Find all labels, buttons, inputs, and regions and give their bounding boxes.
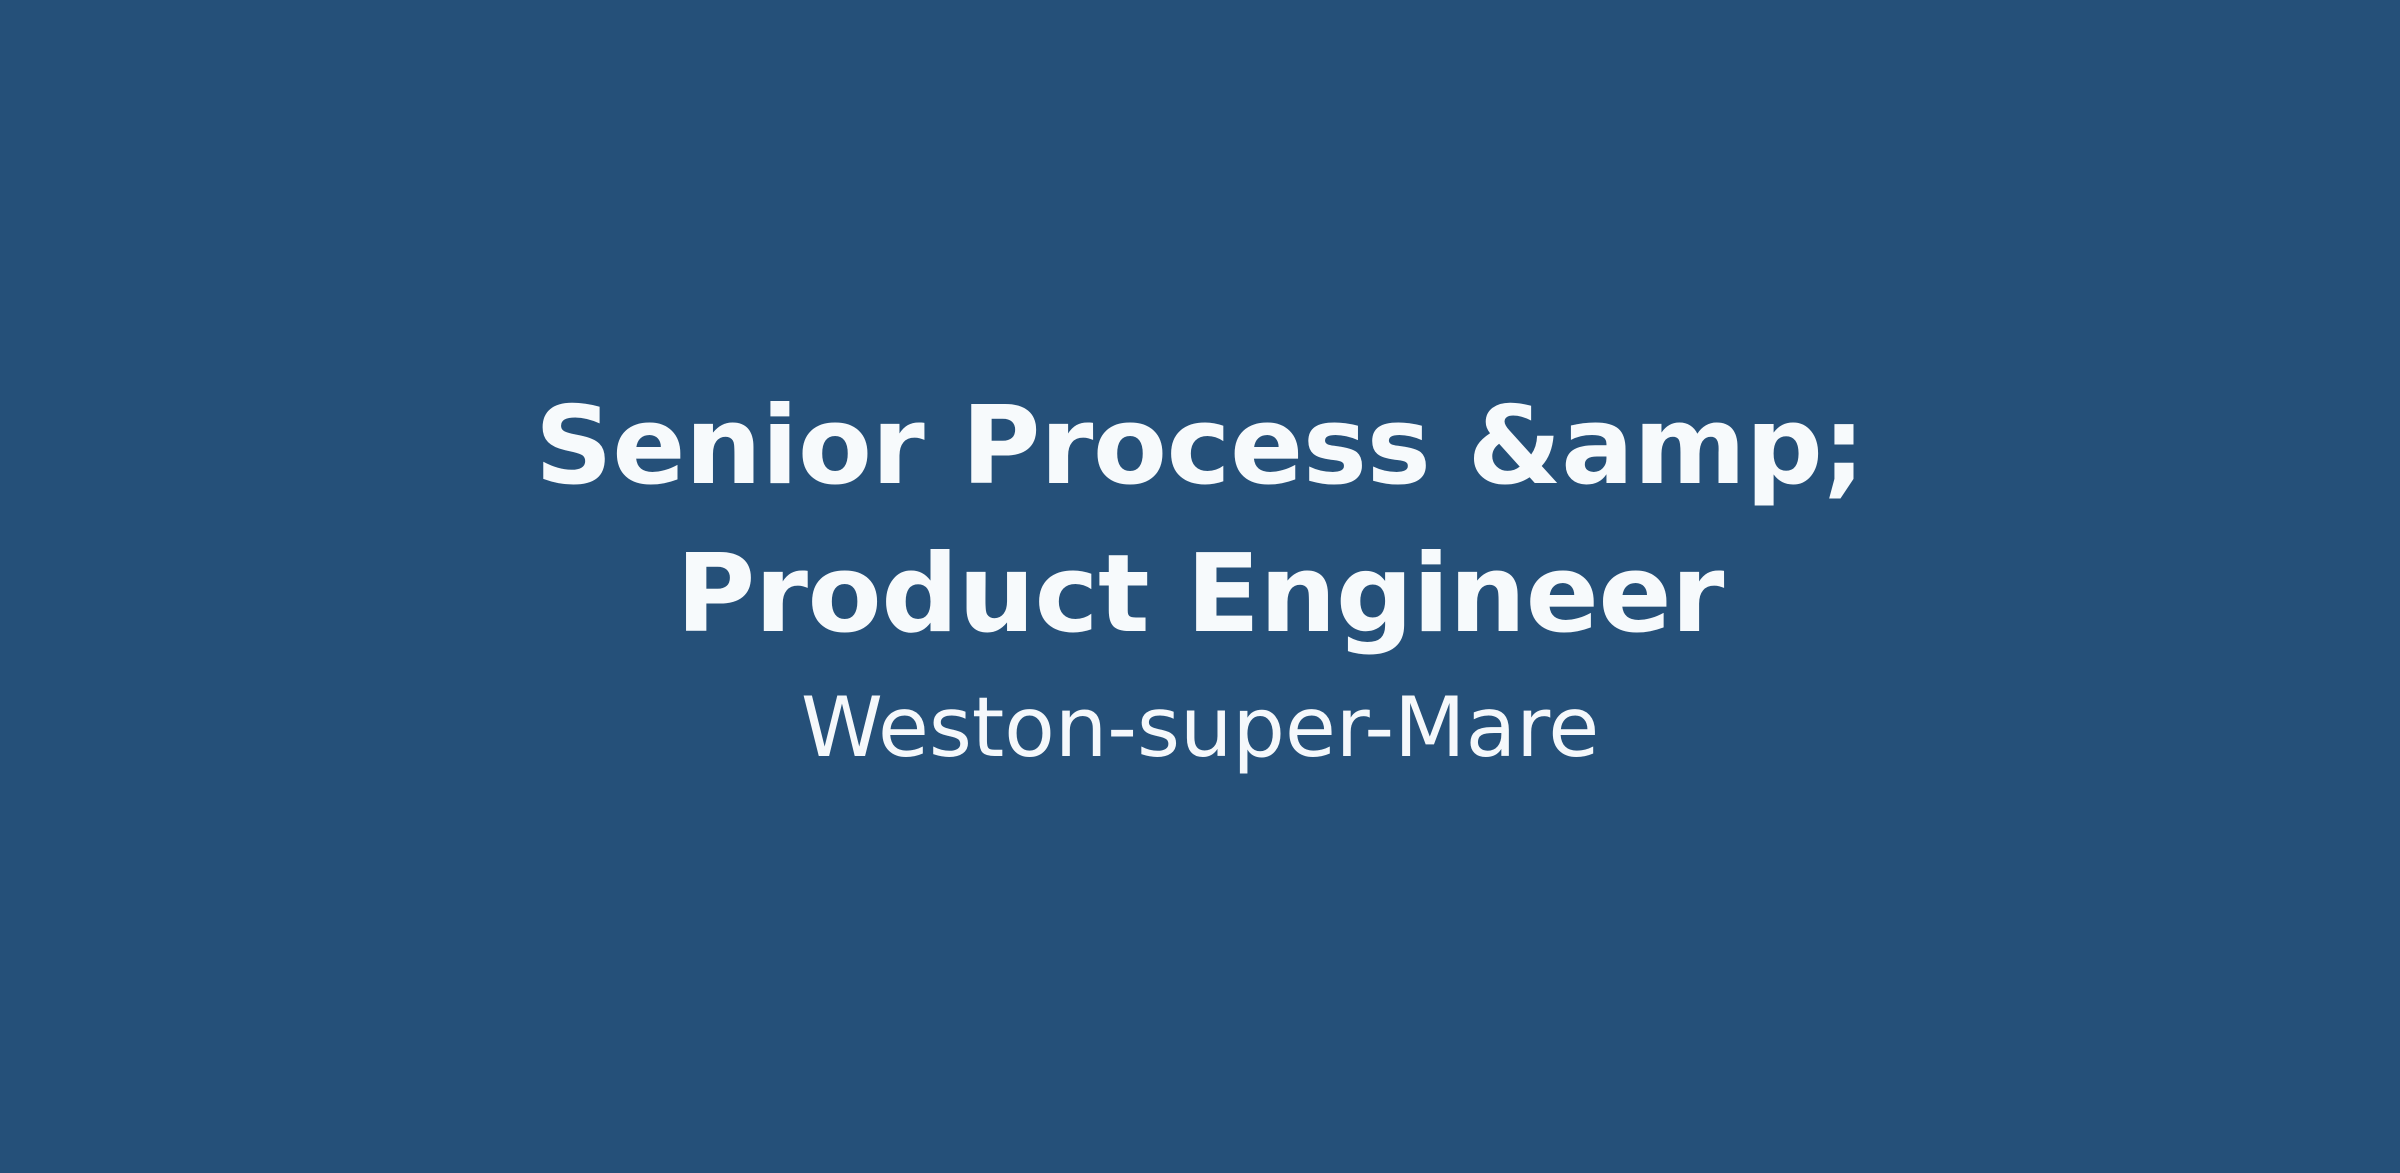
headline-block: Senior Process &amp; Product Engineer We… (420, 373, 1980, 787)
job-posting-card: Senior Process &amp; Product Engineer We… (0, 0, 2400, 1173)
job-location: Weston-super-Mare (801, 669, 1599, 787)
page-title: Senior Process &amp; Product Engineer (420, 373, 1980, 669)
